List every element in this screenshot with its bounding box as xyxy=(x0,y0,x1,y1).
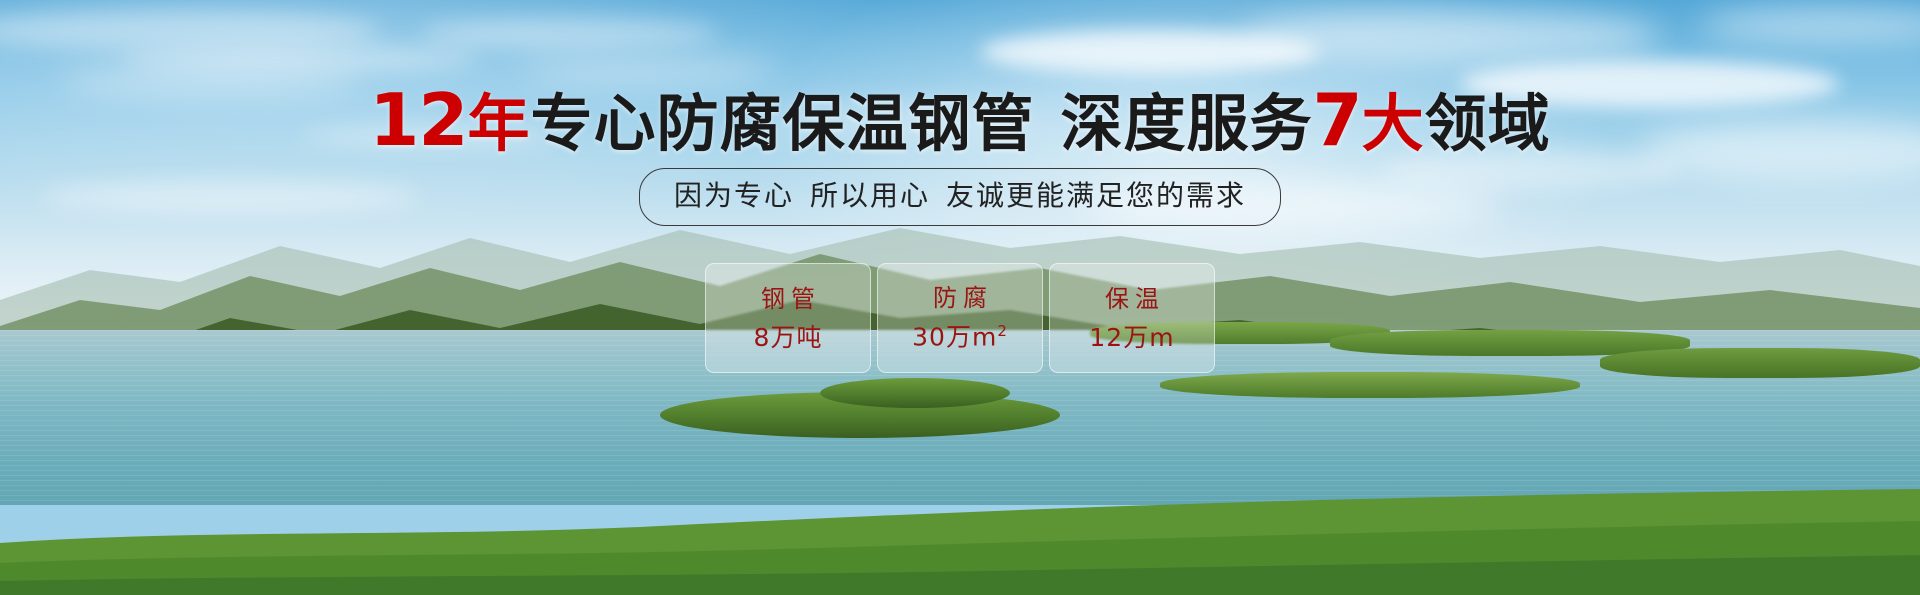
banner-headline: 12年专心防腐保温钢管深度服务7大领域 xyxy=(0,84,1920,156)
headline-fields-unit: 大 xyxy=(1362,87,1425,160)
stat-card-anticorrosion: 防腐 30万m2 xyxy=(877,263,1043,373)
stat-card-title: 保温 xyxy=(1099,287,1165,311)
stat-card-steel-pipe: 钢管 8万吨 xyxy=(705,263,871,373)
stat-card-superscript: 2 xyxy=(997,322,1008,340)
headline-fields-number: 7 xyxy=(1313,78,1362,162)
subtitle-segment-1: 因为专心 xyxy=(674,179,794,212)
banner-content: 12年专心防腐保温钢管深度服务7大领域 因为专心所以用心友诚更能满足您的需求 钢… xyxy=(0,0,1920,595)
hero-banner: 12年专心防腐保温钢管深度服务7大领域 因为专心所以用心友诚更能满足您的需求 钢… xyxy=(0,0,1920,595)
headline-main-text: 专心防腐保温钢管 xyxy=(531,87,1035,160)
headline-years-number: 12 xyxy=(369,78,467,162)
subtitle-segment-3: 友诚更能满足您的需求 xyxy=(946,179,1246,212)
stat-card-insulation: 保温 12万m xyxy=(1049,263,1215,373)
stat-card-title: 钢管 xyxy=(755,287,821,311)
stat-card-value: 8万吨 xyxy=(754,325,823,350)
headline-fields-text: 领域 xyxy=(1425,87,1551,160)
headline-years-unit: 年 xyxy=(468,87,531,160)
stat-card-title: 防腐 xyxy=(927,286,993,310)
headline-service-text: 深度服务 xyxy=(1061,87,1313,160)
stat-card-value: 30万m2 xyxy=(912,324,1008,349)
stat-card-value: 12万m xyxy=(1089,325,1174,350)
banner-subtitle: 因为专心所以用心友诚更能满足您的需求 xyxy=(639,168,1281,226)
subtitle-segment-2: 所以用心 xyxy=(810,179,930,212)
banner-subtitle-container: 因为专心所以用心友诚更能满足您的需求 xyxy=(0,168,1920,226)
stat-card-group: 钢管 8万吨 防腐 30万m2 保温 12万m xyxy=(0,263,1920,373)
